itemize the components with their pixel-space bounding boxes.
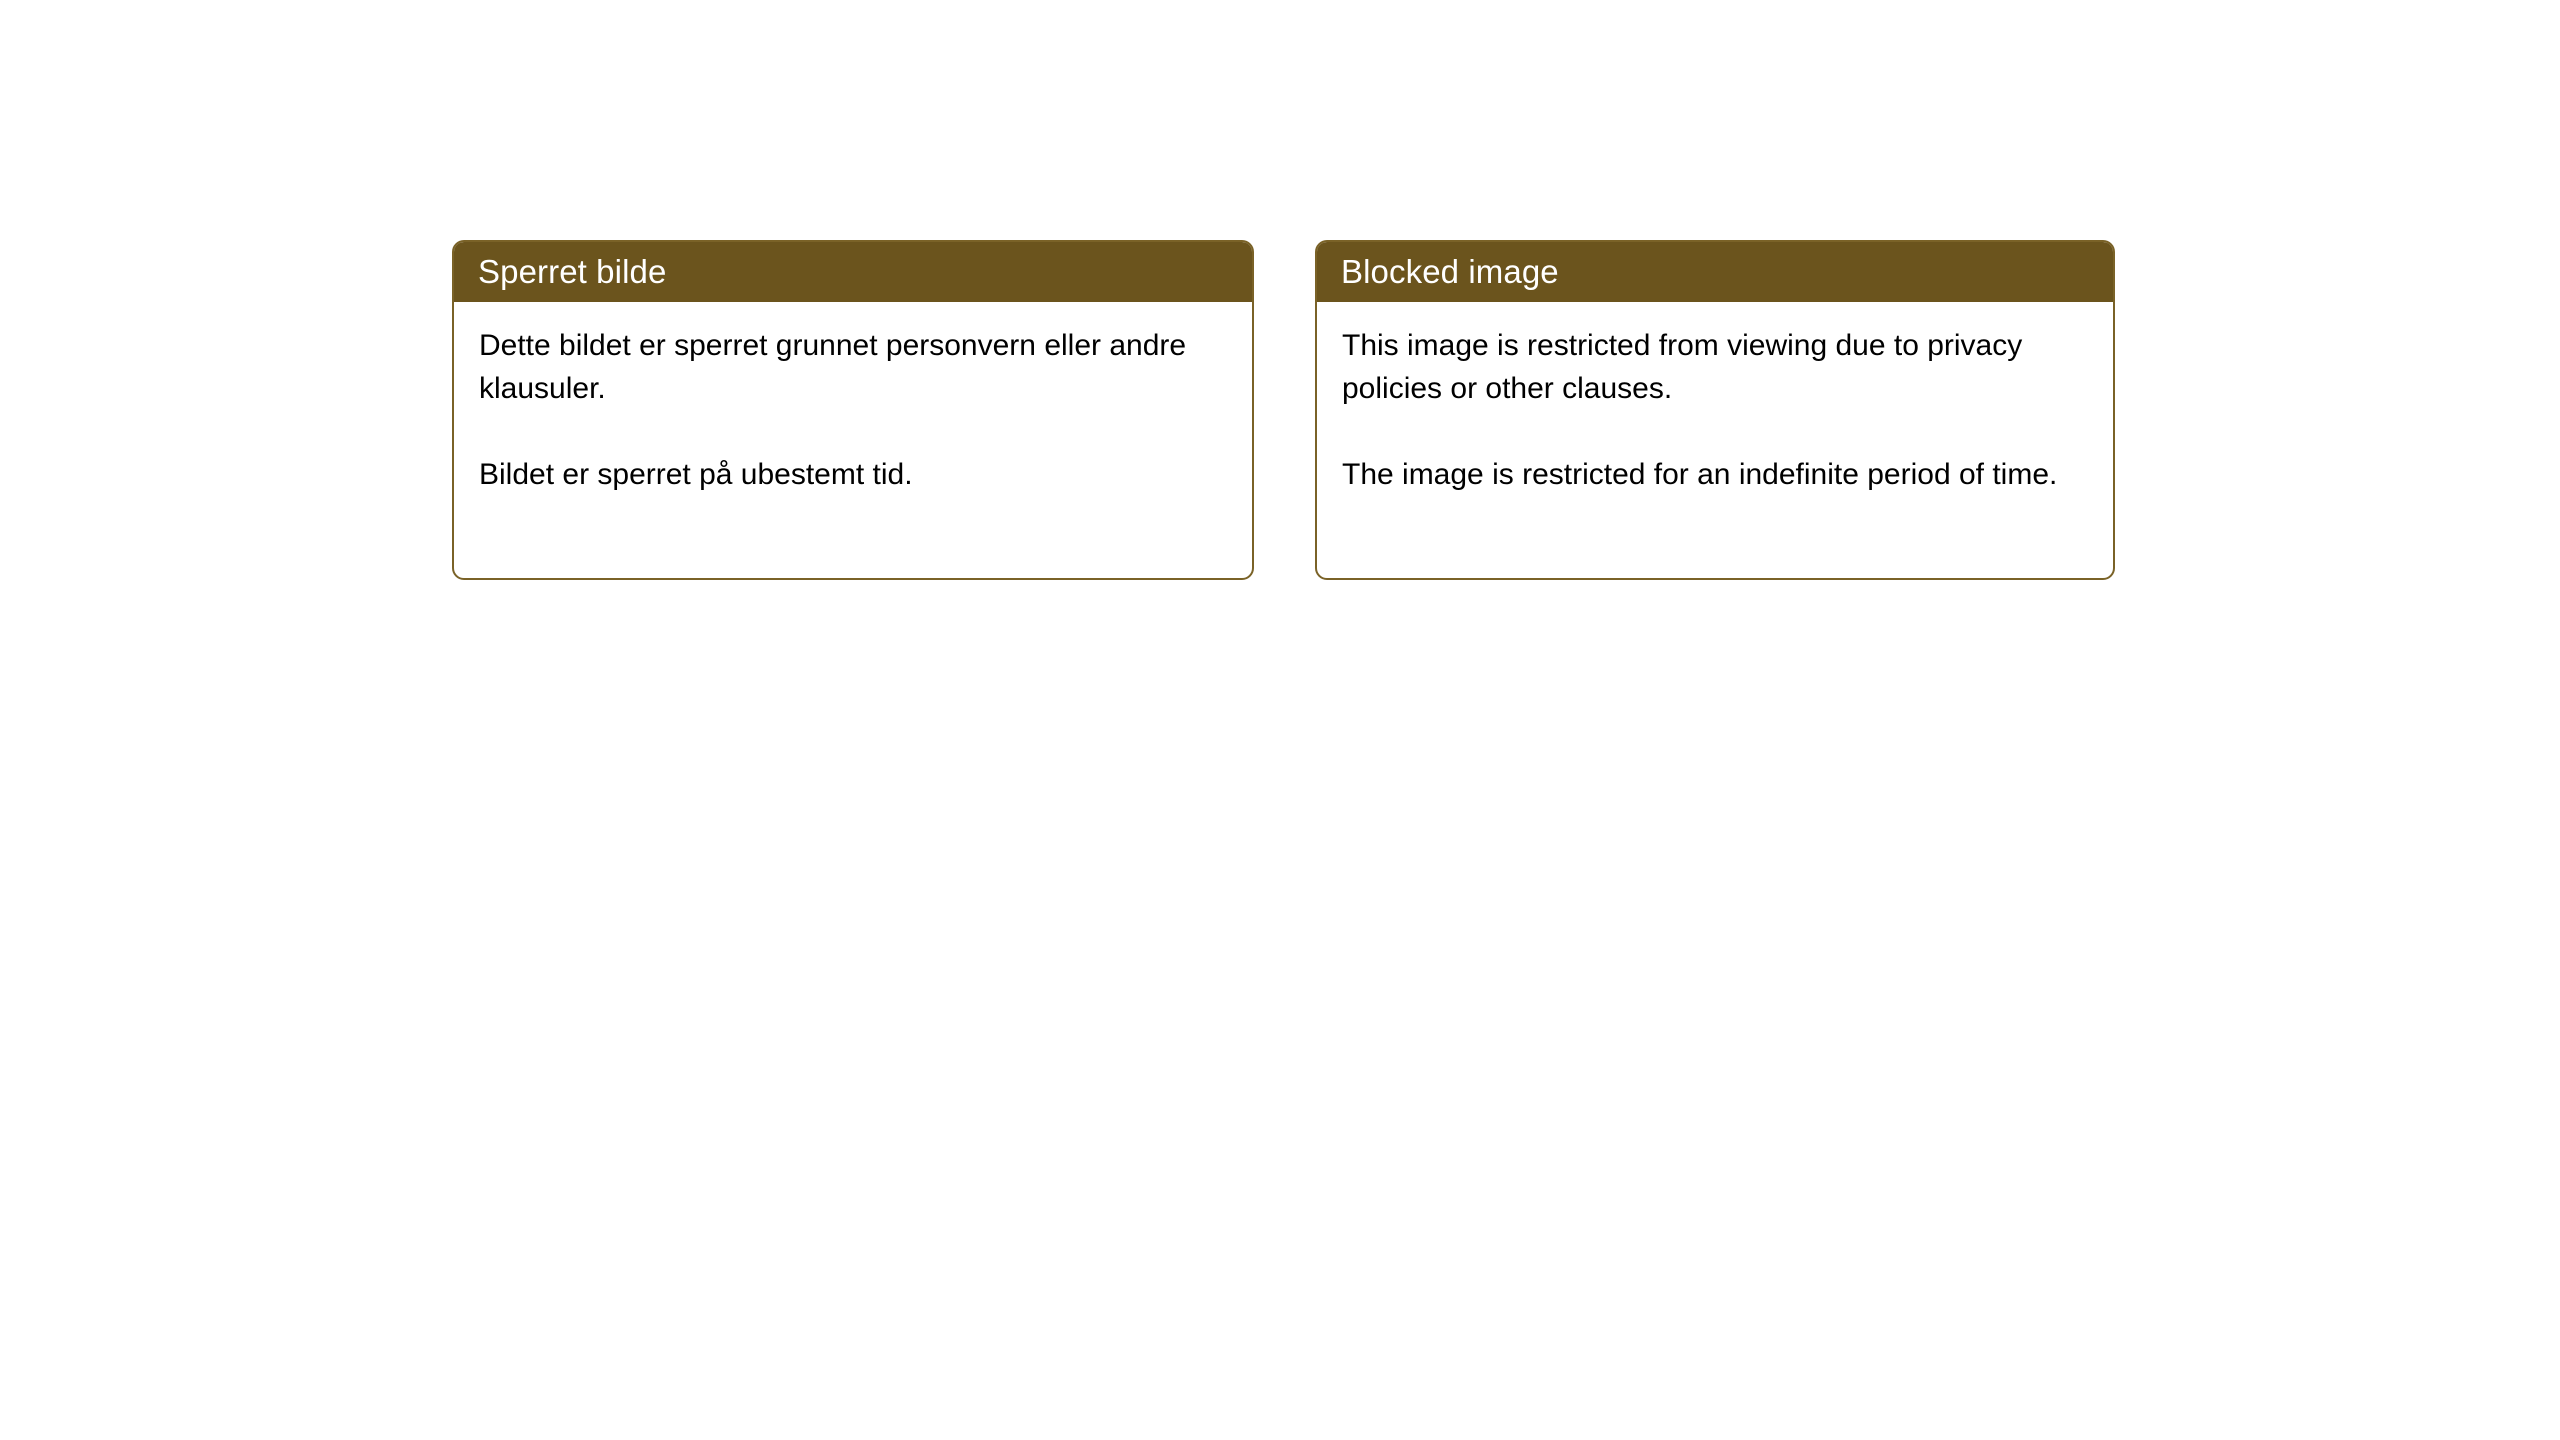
card-body-english: This image is restricted from viewing du… xyxy=(1317,302,2113,496)
card-paragraph-primary-english: This image is restricted from viewing du… xyxy=(1342,324,2083,410)
card-title-english: Blocked image xyxy=(1341,255,1559,288)
blocked-image-card-norwegian: Sperret bilde Dette bildet er sperret gr… xyxy=(452,240,1254,580)
page-canvas: Sperret bilde Dette bildet er sperret gr… xyxy=(0,0,2560,1440)
card-paragraph-primary-norwegian: Dette bildet er sperret grunnet personve… xyxy=(479,324,1222,410)
card-body-norwegian: Dette bildet er sperret grunnet personve… xyxy=(454,302,1252,496)
card-title-norwegian: Sperret bilde xyxy=(478,255,666,288)
blocked-image-card-english: Blocked image This image is restricted f… xyxy=(1315,240,2115,580)
card-paragraph-secondary-norwegian: Bildet er sperret på ubestemt tid. xyxy=(479,453,1222,496)
card-header-norwegian: Sperret bilde xyxy=(452,240,1254,302)
card-header-english: Blocked image xyxy=(1315,240,2115,302)
card-paragraph-secondary-english: The image is restricted for an indefinit… xyxy=(1342,453,2083,496)
